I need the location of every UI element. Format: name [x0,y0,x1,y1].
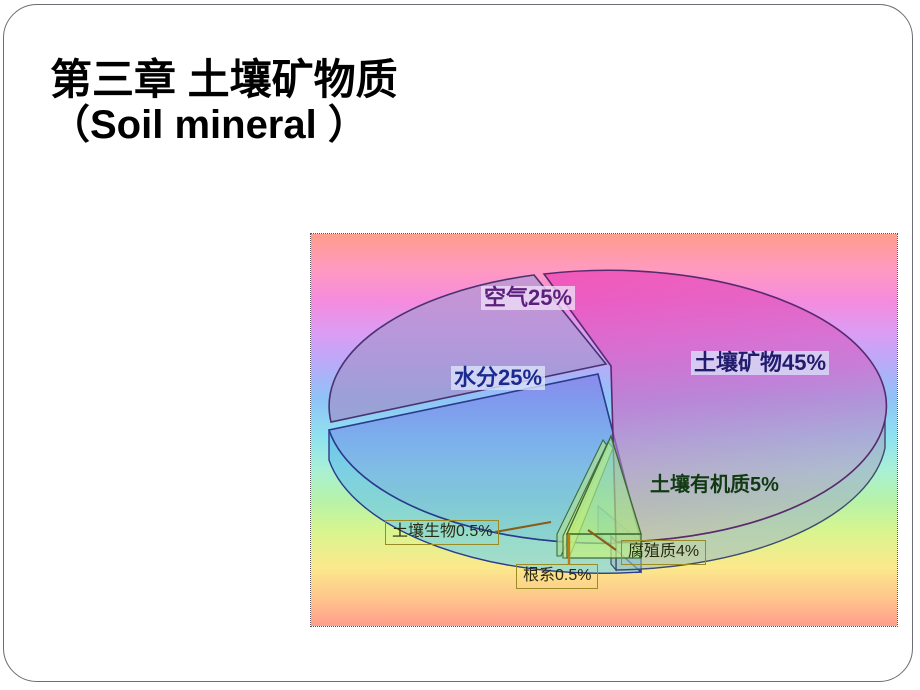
callout-roots: 根系0.5% [516,564,598,589]
pie-label-soil-organic-matter: 土壤有机质5% [647,474,782,496]
title-line-chinese: 第三章 土壤矿物质 [50,56,650,103]
slide: 第三章 土壤矿物质 （Soil mineral ） [0,0,920,690]
title-line-english: （Soil mineral ） [50,103,650,148]
page-title: 第三章 土壤矿物质 （Soil mineral ） [50,56,650,148]
callout-soil-biology: 土壤生物0.5% [385,520,499,545]
soil-composition-pie-chart: 空气25% 水分25% 土壤矿物45% 土壤有机质5% 土壤生物0.5% 根系0… [310,233,898,627]
pie-label-soil-mineral: 土壤矿物45% [691,351,829,375]
pie-label-water: 水分25% [451,366,545,390]
pie-chart-graphic [311,234,898,627]
callout-humus: 腐殖质4% [621,540,706,565]
pie-label-air: 空气25% [481,286,575,310]
